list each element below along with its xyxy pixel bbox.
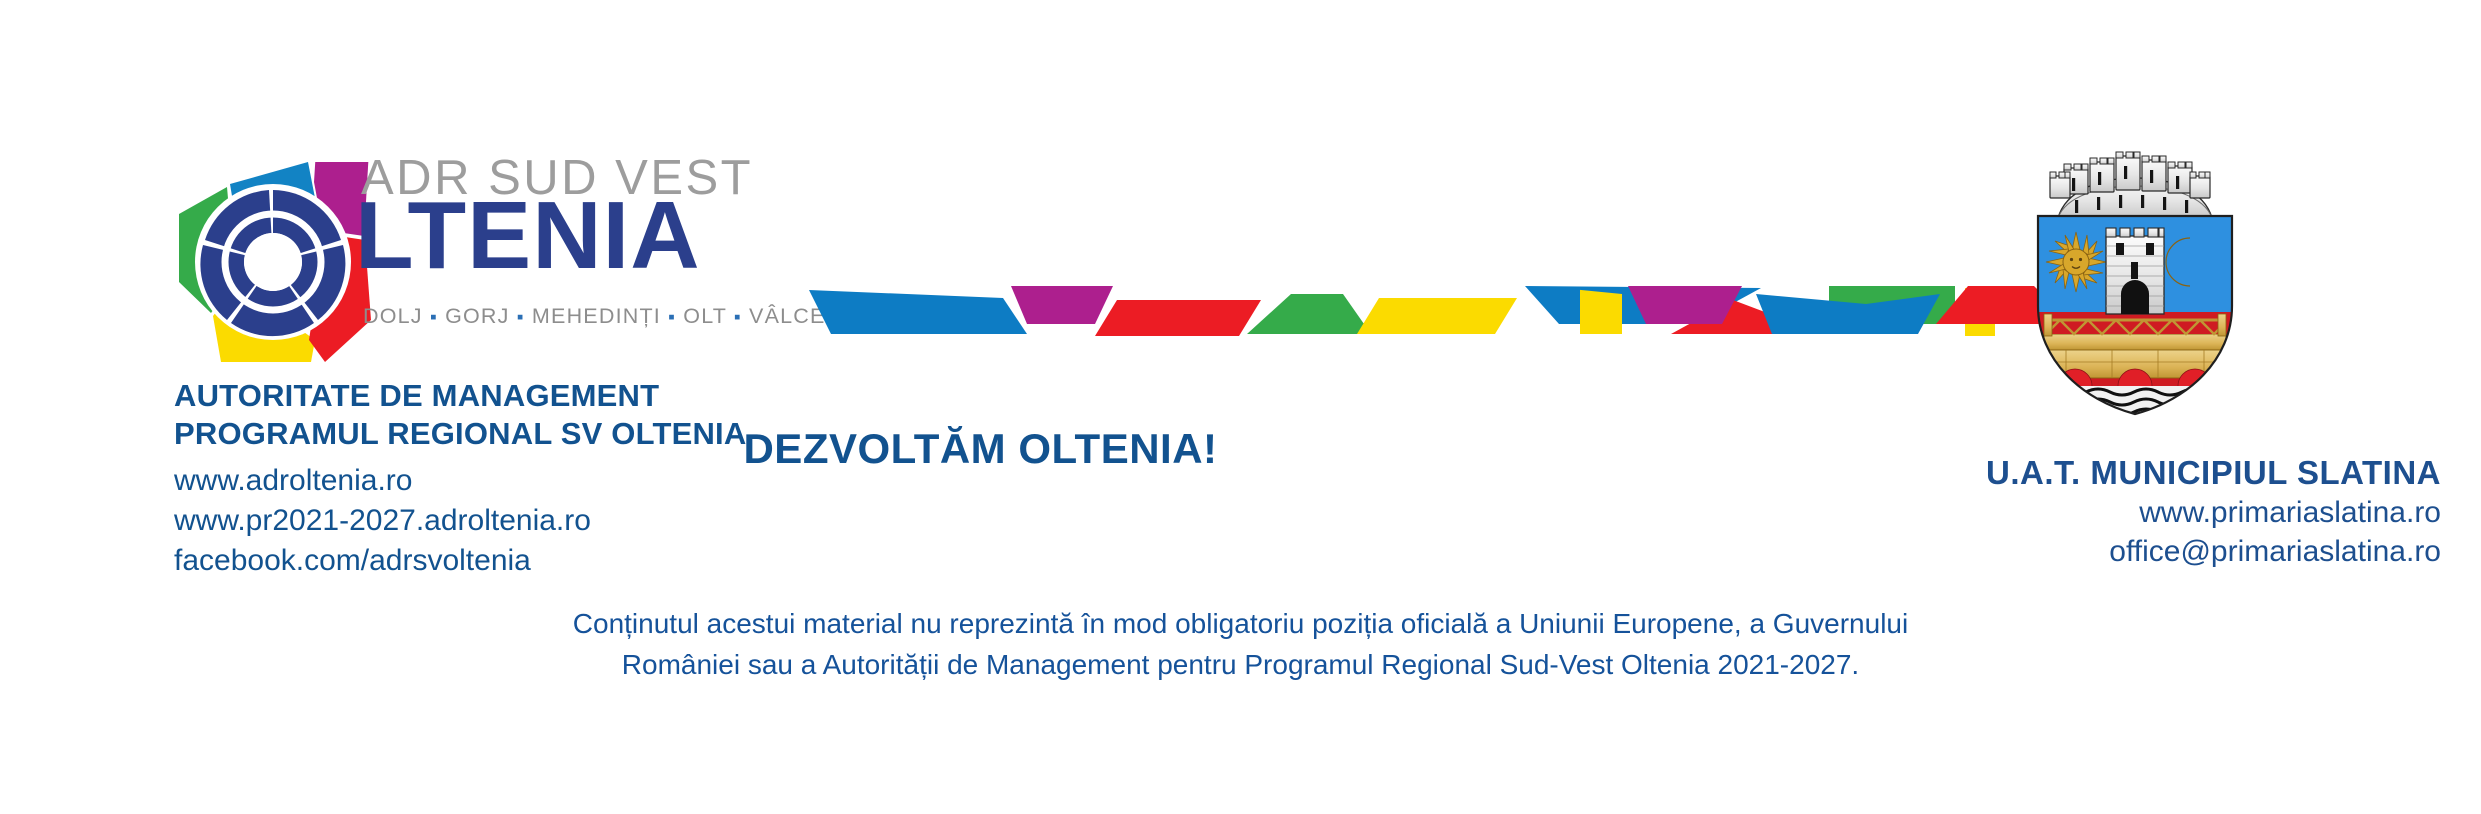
beneficiary-heading: U.A.T. MUNICIPIUL SLATINA [1986,452,2441,493]
managing-authority-block: AUTORITATE DE MANAGEMENT PROGRAMUL REGIO… [174,377,874,581]
adr-oltenia-wheel-mark-icon [175,162,375,362]
disclaimer-line-2: României sau a Autorității de Management… [0,645,2481,686]
band-segment-yellow-1 [1357,298,1517,334]
tower-charge [2106,228,2164,314]
beneficiary-block: U.A.T. MUNICIPIUL SLATINA www.primariasl… [1986,452,2441,571]
county-separator-icon: ▪ [668,307,676,328]
link-facebook[interactable]: facebook.com/adrsvoltenia [174,541,874,581]
adr-wordmark: ADR SUD VEST LTENIA DOLJ ▪ GORJ ▪ MEHEDI… [361,140,811,370]
county-separator-icon: ▪ [734,307,742,328]
disclaimer-text: Conținutul acestui material nu reprezint… [0,604,2481,685]
band-segment-yellow-3 [1580,284,1622,334]
authority-heading-line1: AUTORITATE DE MANAGEMENT [174,377,874,415]
band-segment-green-1 [1247,294,1371,334]
sun-charge [2046,232,2106,292]
county-mehedinti: MEHEDINȚI [532,304,661,328]
county-dolj: DOLJ [363,304,423,328]
banner-root: ADR SUD VEST LTENIA DOLJ ▪ GORJ ▪ MEHEDI… [0,0,2481,814]
county-separator-icon: ▪ [430,307,438,328]
shield-body [2038,216,2232,418]
slatina-coat-of-arms-icon [2020,138,2250,418]
band-segment-magenta-2 [1628,286,1742,324]
band-segment-blue-3 [1756,294,1940,334]
beneficiary-email[interactable]: office@primariaslatina.ro [1986,532,2441,571]
beneficiary-website[interactable]: www.primariaslatina.ro [1986,493,2441,532]
adr-logo: ADR SUD VEST LTENIA DOLJ ▪ GORJ ▪ MEHEDI… [175,140,815,380]
county-gorj: GORJ [445,304,510,328]
band-segment-red-1 [1095,300,1261,336]
county-separator-icon: ▪ [517,307,525,328]
mural-crown [2050,152,2212,218]
band-segment-magenta-1 [1011,286,1113,324]
adr-counties-line: DOLJ ▪ GORJ ▪ MEHEDINȚI ▪ OLT ▪ VÂLCEA [363,304,841,329]
county-olt: OLT [683,304,726,328]
disclaimer-line-1: Conținutul acestui material nu reprezint… [0,604,2481,645]
adr-wordmark-main: LTENIA [355,188,701,284]
link-pr2021-2027[interactable]: www.pr2021-2027.adroltenia.ro [174,501,874,541]
slogan: DEZVOLTĂM OLTENIA! [0,425,2221,473]
band-segment-blue-1 [809,290,1027,334]
